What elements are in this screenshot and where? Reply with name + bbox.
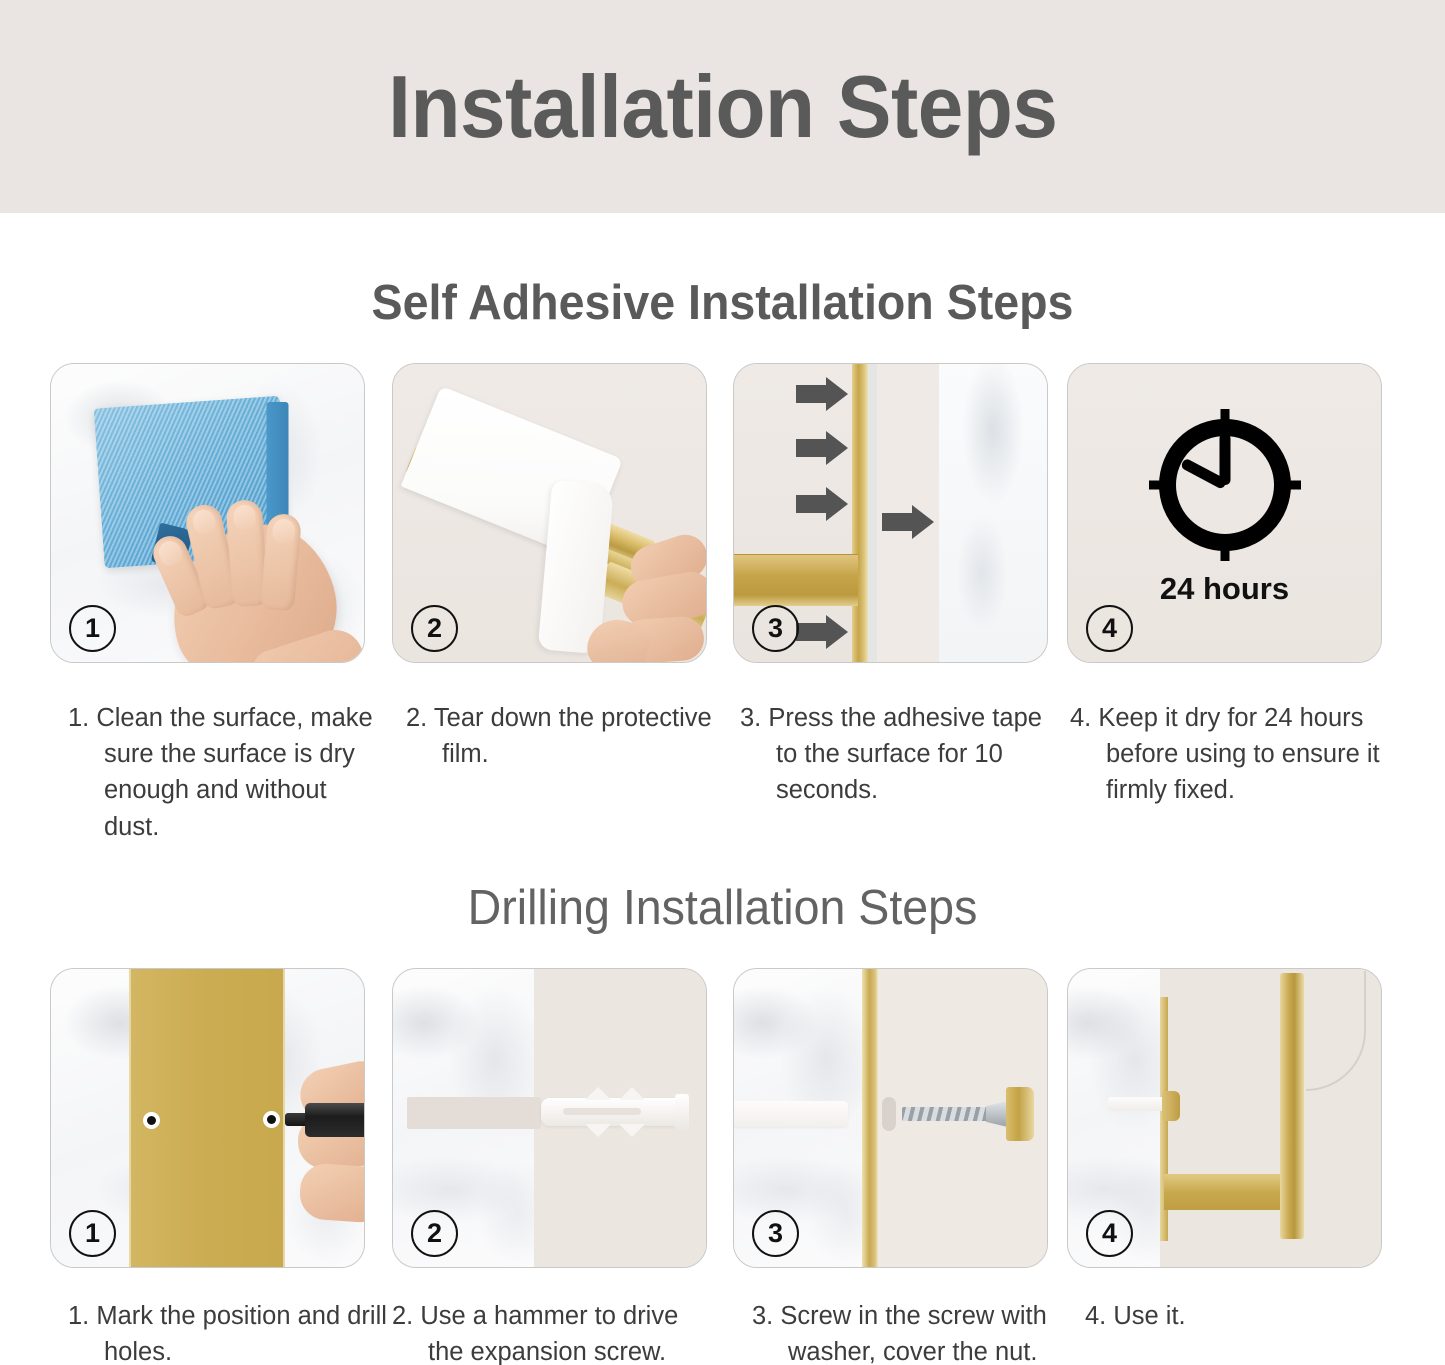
- screw: [902, 1100, 1012, 1128]
- expansion-anchor: [733, 1101, 848, 1127]
- step-caption: 1. Clean the surface, make sure the surf…: [68, 700, 388, 845]
- step-image-finished-rack: 4: [1067, 968, 1382, 1268]
- step-caption: 2. Tear down the protective film.: [406, 700, 726, 772]
- clock-duration-label: 24 hours: [1160, 571, 1289, 607]
- section-heading-self-adhesive: Self Adhesive Installation Steps: [36, 275, 1409, 331]
- screw-thread: [902, 1107, 994, 1121]
- rack-front-bar: [1280, 973, 1304, 1239]
- fingernail: [155, 538, 185, 569]
- gold-mounting-plate: [734, 554, 858, 606]
- press-arrow-icon: [882, 512, 934, 532]
- anchor-collar: [675, 1094, 689, 1130]
- gold-nut-cover: [1006, 1087, 1034, 1141]
- fingernail: [233, 504, 257, 529]
- hand-illustration: [139, 470, 344, 663]
- step-badge: 3: [752, 1210, 799, 1257]
- infographic-page: Installation Steps Self Adhesive Install…: [0, 0, 1445, 1365]
- hand-illustration: [268, 1065, 365, 1245]
- clock-tick-3: [1279, 481, 1301, 490]
- gold-vertical-strip: [852, 364, 868, 662]
- anchor-fin: [585, 1087, 611, 1100]
- step-caption: 3. Press the adhesive tape to the surfac…: [740, 700, 1060, 809]
- step-image-press-tape: 3: [733, 363, 1048, 663]
- page-title: Installation Steps: [388, 63, 1057, 151]
- step-caption: 4. Keep it dry for 24 hours before using…: [1070, 700, 1390, 809]
- step-caption: 3. Screw in the screw with washer, cover…: [752, 1298, 1072, 1365]
- step-caption: 2. Use a hammer to drive the expansion s…: [392, 1298, 712, 1365]
- step-image-tear-film: 2: [392, 363, 707, 663]
- press-arrow-icon: [796, 494, 848, 514]
- header-band: Installation Steps: [0, 0, 1445, 213]
- drill-mark-dot: [143, 1112, 160, 1129]
- clock-tick-9: [1149, 481, 1171, 490]
- hand-illustration: [574, 518, 707, 663]
- step-image-hammer-anchor: 2: [392, 968, 707, 1268]
- step-badge: 2: [411, 605, 458, 652]
- pen-body: [305, 1103, 365, 1137]
- step-badge: 3: [752, 605, 799, 652]
- step-badge: 4: [1086, 605, 1133, 652]
- expansion-anchor: [1108, 1097, 1164, 1111]
- gold-vertical-strip: [862, 969, 878, 1267]
- step-image-screw-in: 3: [733, 968, 1048, 1268]
- step-caption: 4. Use it.: [1085, 1298, 1405, 1334]
- drilled-hole: [407, 1097, 541, 1129]
- section-heading-drilling: Drilling Installation Steps: [36, 880, 1409, 936]
- screw-hole: [882, 1097, 896, 1131]
- step-badge: 4: [1086, 1210, 1133, 1257]
- clock-tick-12: [1220, 409, 1229, 431]
- gap-strip: [868, 364, 877, 662]
- step-image-wait-24-hours: 24 hours 4: [1067, 363, 1382, 663]
- step-badge: 1: [69, 1210, 116, 1257]
- step-badge: 2: [411, 1210, 458, 1257]
- finger: [298, 1162, 365, 1224]
- rack-shelf-bar: [1164, 1174, 1292, 1210]
- expansion-anchor: [541, 1090, 689, 1134]
- fingernail: [272, 518, 296, 544]
- press-arrow-icon: [796, 384, 848, 404]
- marker-pen: [279, 1103, 365, 1137]
- step-badge: 1: [69, 605, 116, 652]
- step-image-clean-surface: 1: [50, 363, 365, 663]
- clock-tick-6: [1220, 539, 1229, 561]
- rack-wall-mount: [1162, 1091, 1180, 1121]
- anchor-slot: [563, 1108, 641, 1115]
- anchor-fin: [619, 1124, 645, 1137]
- marble-wall-right: [939, 364, 1047, 662]
- step-image-mark-position: 1: [50, 968, 365, 1268]
- step-caption: 1. Mark the position and drill holes.: [68, 1298, 388, 1365]
- press-arrow-icon: [796, 438, 848, 458]
- fingernail: [191, 508, 218, 536]
- clock-icon: [1147, 407, 1303, 563]
- press-arrow-icon: [796, 622, 848, 642]
- anchor-fin: [585, 1124, 611, 1137]
- anchor-fin: [619, 1087, 645, 1100]
